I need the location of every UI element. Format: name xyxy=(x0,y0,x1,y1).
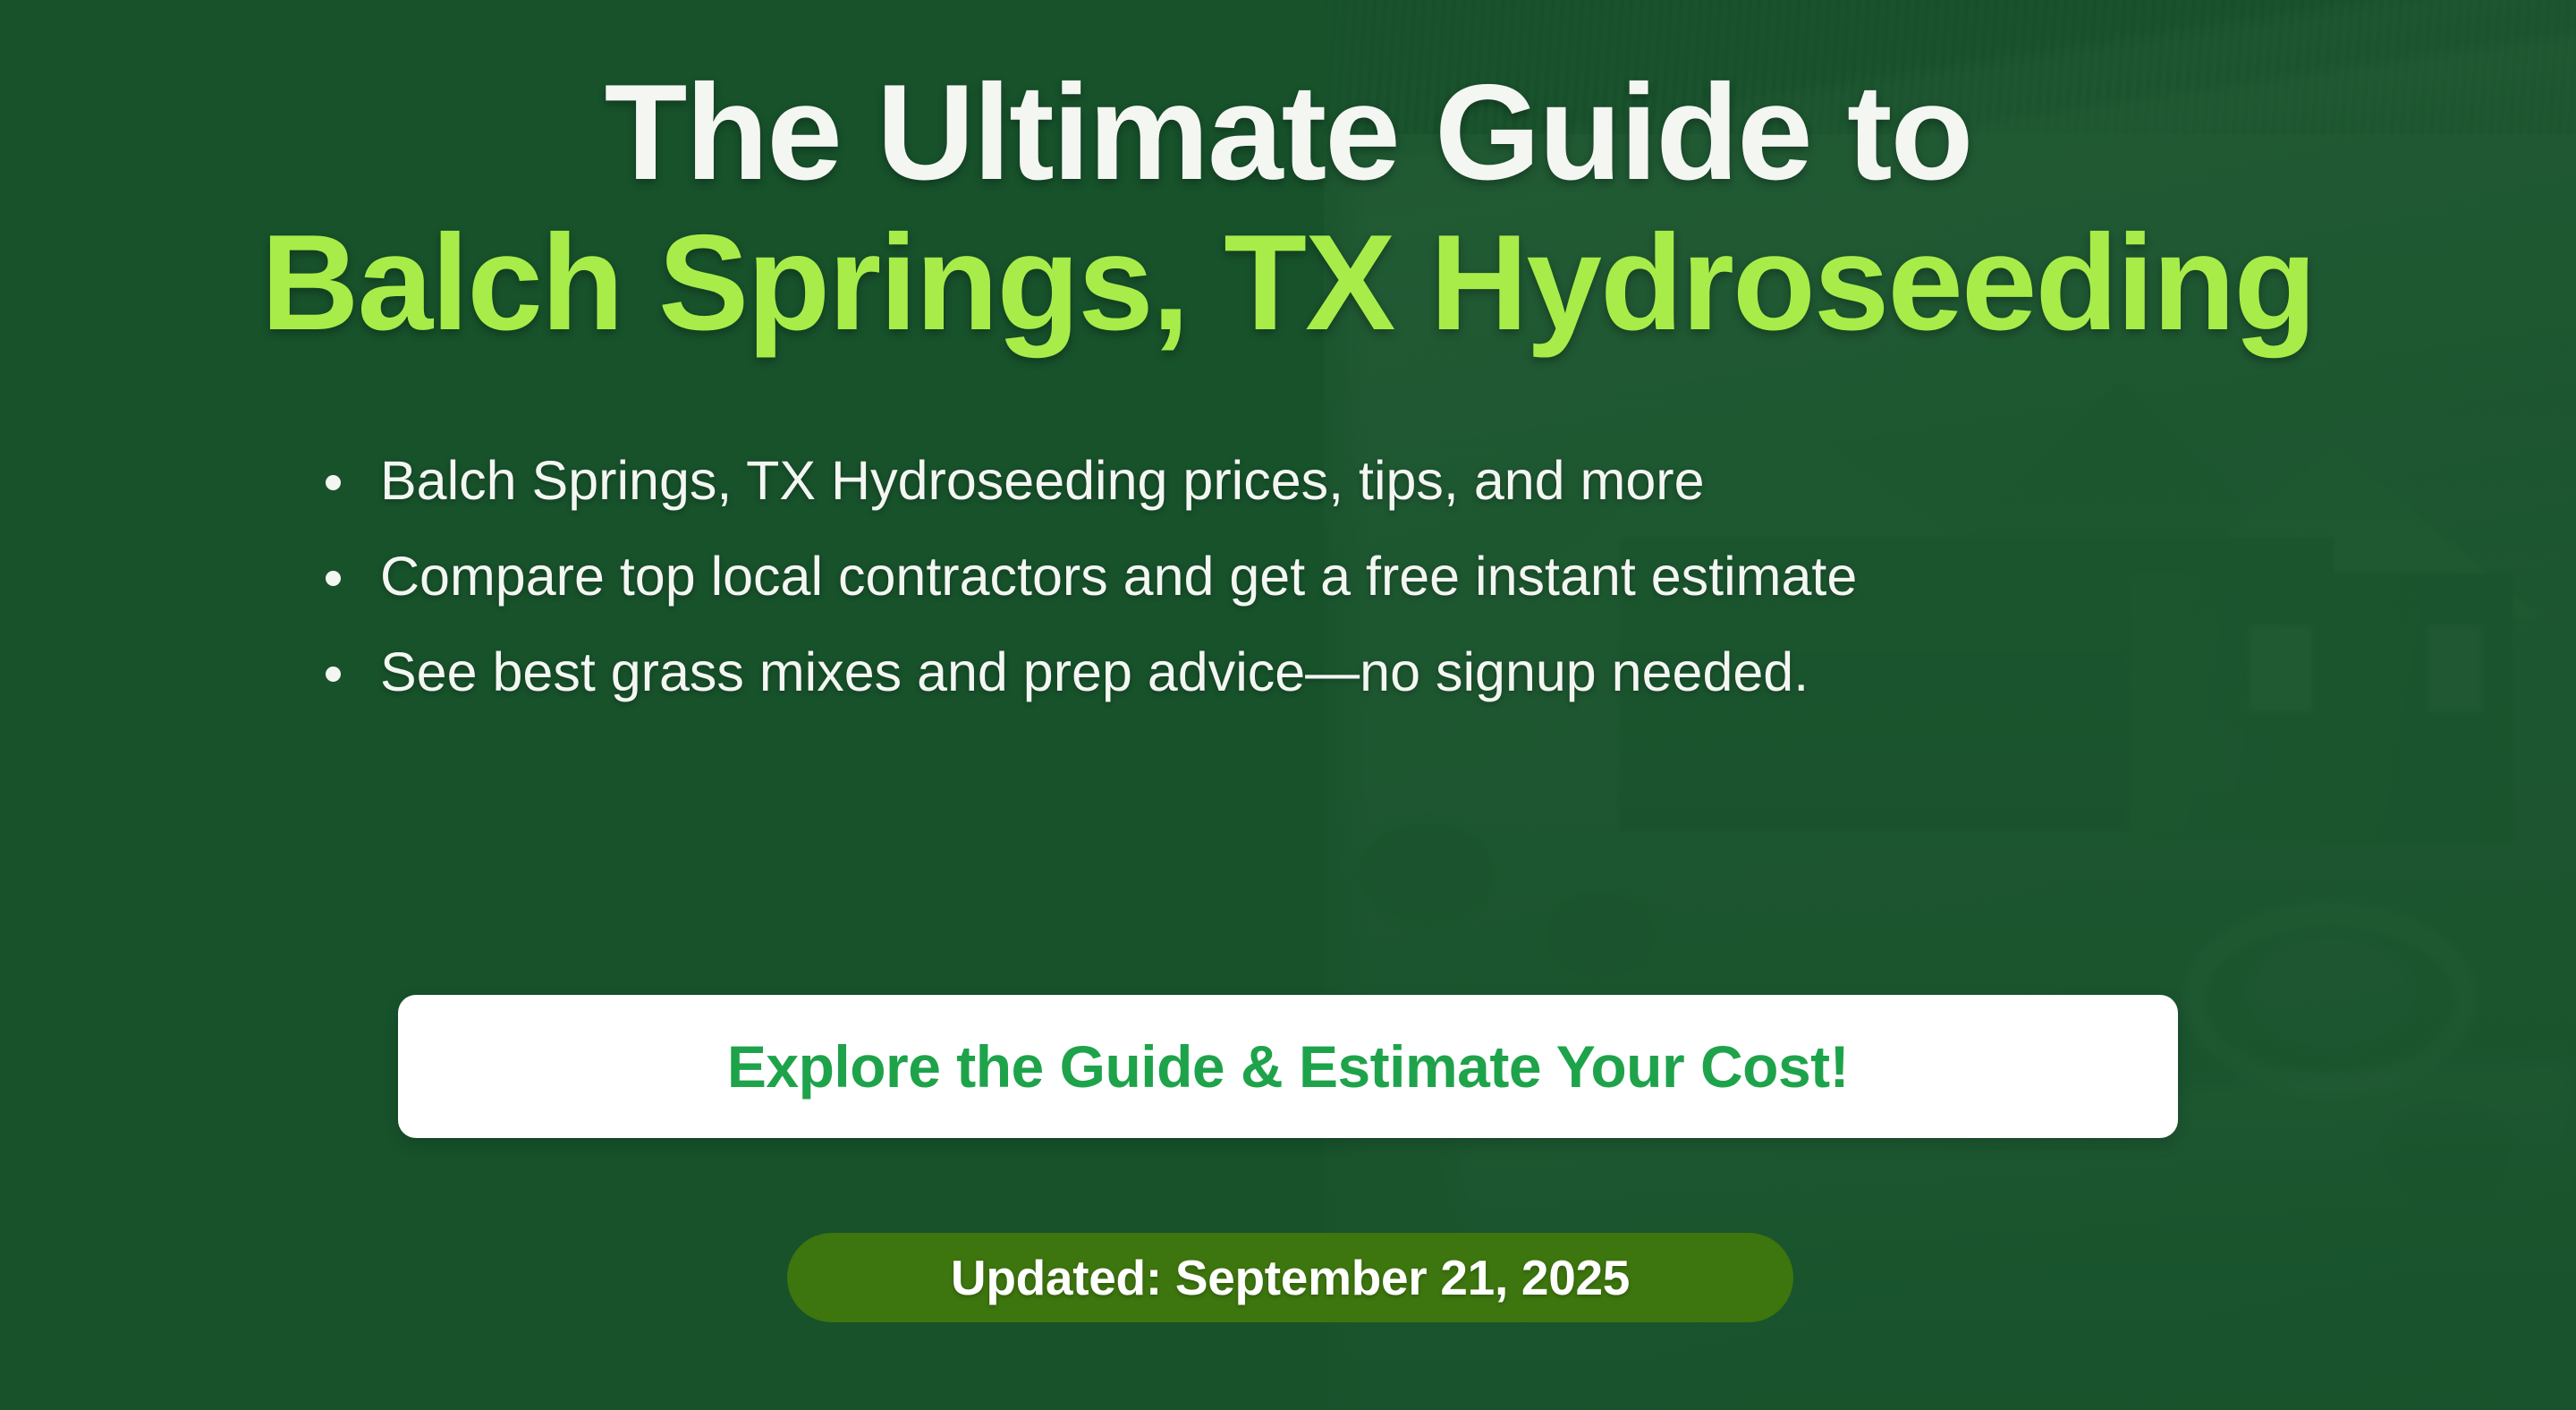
updated-date-label: Updated: September 21, 2025 xyxy=(951,1249,1630,1306)
page-title: The Ultimate Guide to Balch Springs, TX … xyxy=(0,64,2576,351)
list-item: See best grass mixes and prep advice—no … xyxy=(315,624,2576,720)
hero-banner: The Ultimate Guide to Balch Springs, TX … xyxy=(0,0,2576,1410)
list-item: Compare top local contractors and get a … xyxy=(315,529,2576,624)
updated-date-badge: Updated: September 21, 2025 xyxy=(787,1233,1793,1322)
title-line-accent: Balch Springs, TX Hydroseeding xyxy=(0,215,2576,351)
list-item: Balch Springs, TX Hydroseeding prices, t… xyxy=(315,433,2576,529)
title-line-primary: The Ultimate Guide to xyxy=(0,64,2576,200)
banner-content: The Ultimate Guide to Balch Springs, TX … xyxy=(0,0,2576,1410)
benefit-list: Balch Springs, TX Hydroseeding prices, t… xyxy=(0,433,2576,720)
explore-guide-button[interactable]: Explore the Guide & Estimate Your Cost! xyxy=(398,995,2178,1138)
explore-guide-button-label: Explore the Guide & Estimate Your Cost! xyxy=(727,1032,1849,1100)
